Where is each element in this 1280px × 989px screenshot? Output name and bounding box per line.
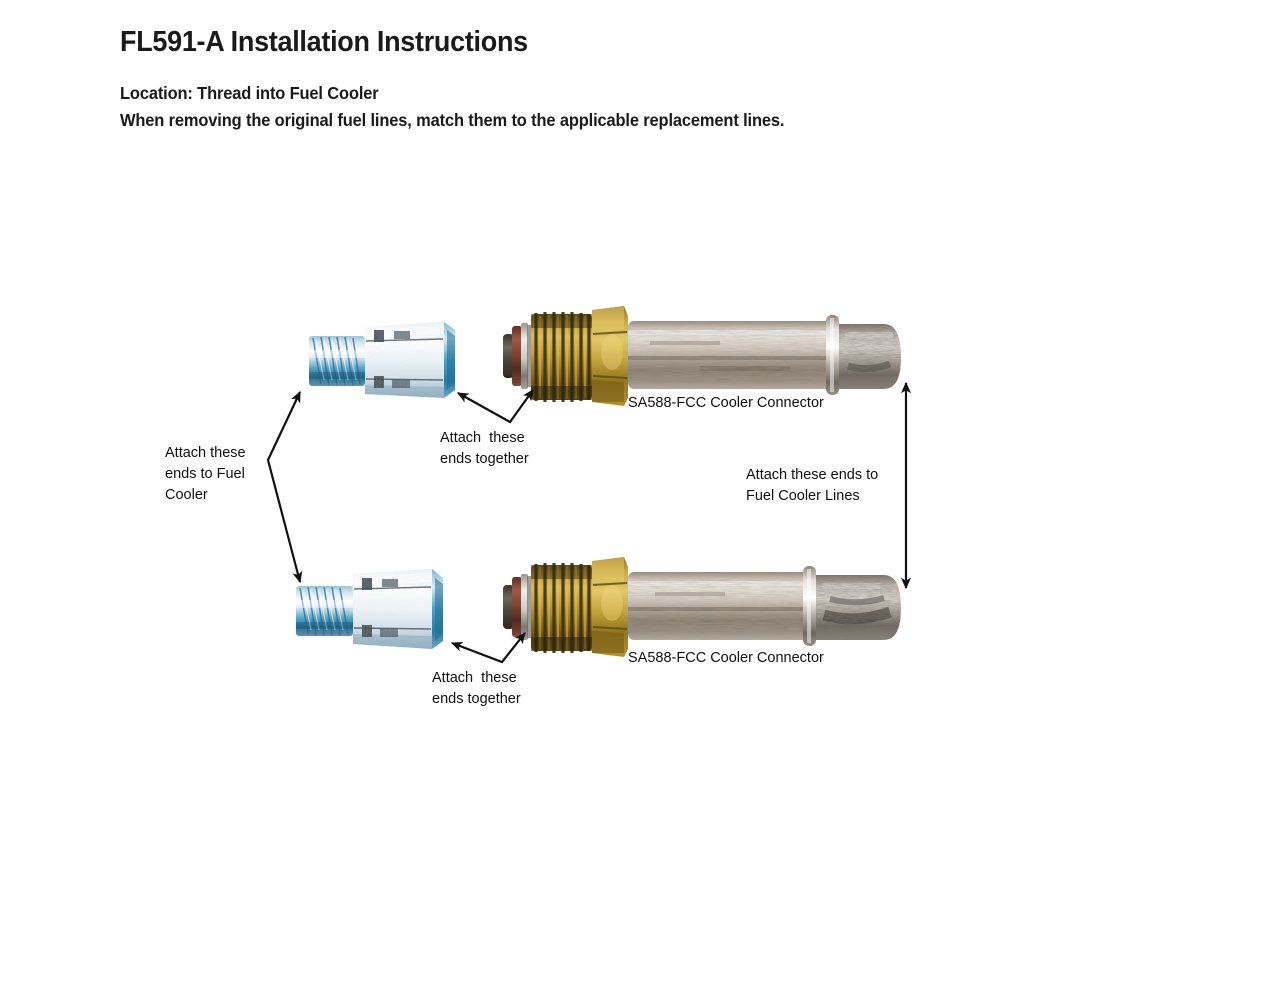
instruction-page: FL591-A Installation Instructions Locati… — [0, 0, 1280, 989]
connector-top-hex-nut — [592, 306, 628, 406]
adapter-top-thread — [309, 336, 365, 386]
connector-top-bead-ring — [826, 315, 839, 395]
connector-bottom-bead-ring — [803, 566, 816, 646]
arrow-join-bottom — [452, 633, 525, 662]
adapter-bottom-hex-body — [353, 569, 443, 649]
connector-bottom — [503, 557, 901, 657]
adapter-bottom — [296, 569, 443, 649]
connector-top-brass-thread — [531, 312, 592, 402]
label-attach-together-bottom: Attach these ends together — [432, 668, 521, 710]
connector-top-tube-tip — [839, 324, 901, 389]
adapter-top-hex-body — [365, 322, 455, 398]
connector-bottom-hex-nut — [592, 557, 628, 657]
label-connector-top: SA588-FCC Cooler Connector — [628, 393, 824, 414]
label-attach-cooler-lines: Attach these ends to Fuel Cooler Lines — [746, 465, 878, 507]
arrow-fuel-cooler — [268, 392, 300, 582]
connector-bottom-tube-tip — [816, 575, 901, 640]
connector-bottom-tube — [628, 572, 808, 640]
label-attach-together-top: Attach these ends together — [440, 428, 529, 470]
label-connector-bottom: SA588-FCC Cooler Connector — [628, 648, 824, 669]
connector-top — [503, 306, 901, 406]
arrow-join-top — [458, 390, 533, 422]
adapter-bottom-female-end — [432, 569, 443, 649]
adapter-top-female-end — [444, 322, 455, 398]
connector-top-oring-end — [503, 323, 532, 389]
adapter-top — [309, 322, 455, 398]
connector-bottom-oring-end — [503, 574, 532, 640]
adapter-bottom-thread — [296, 586, 353, 636]
connector-top-tube — [628, 321, 831, 389]
label-attach-fuel-cooler: Attach these ends to Fuel Cooler — [165, 443, 246, 506]
connector-bottom-brass-thread — [531, 563, 592, 653]
